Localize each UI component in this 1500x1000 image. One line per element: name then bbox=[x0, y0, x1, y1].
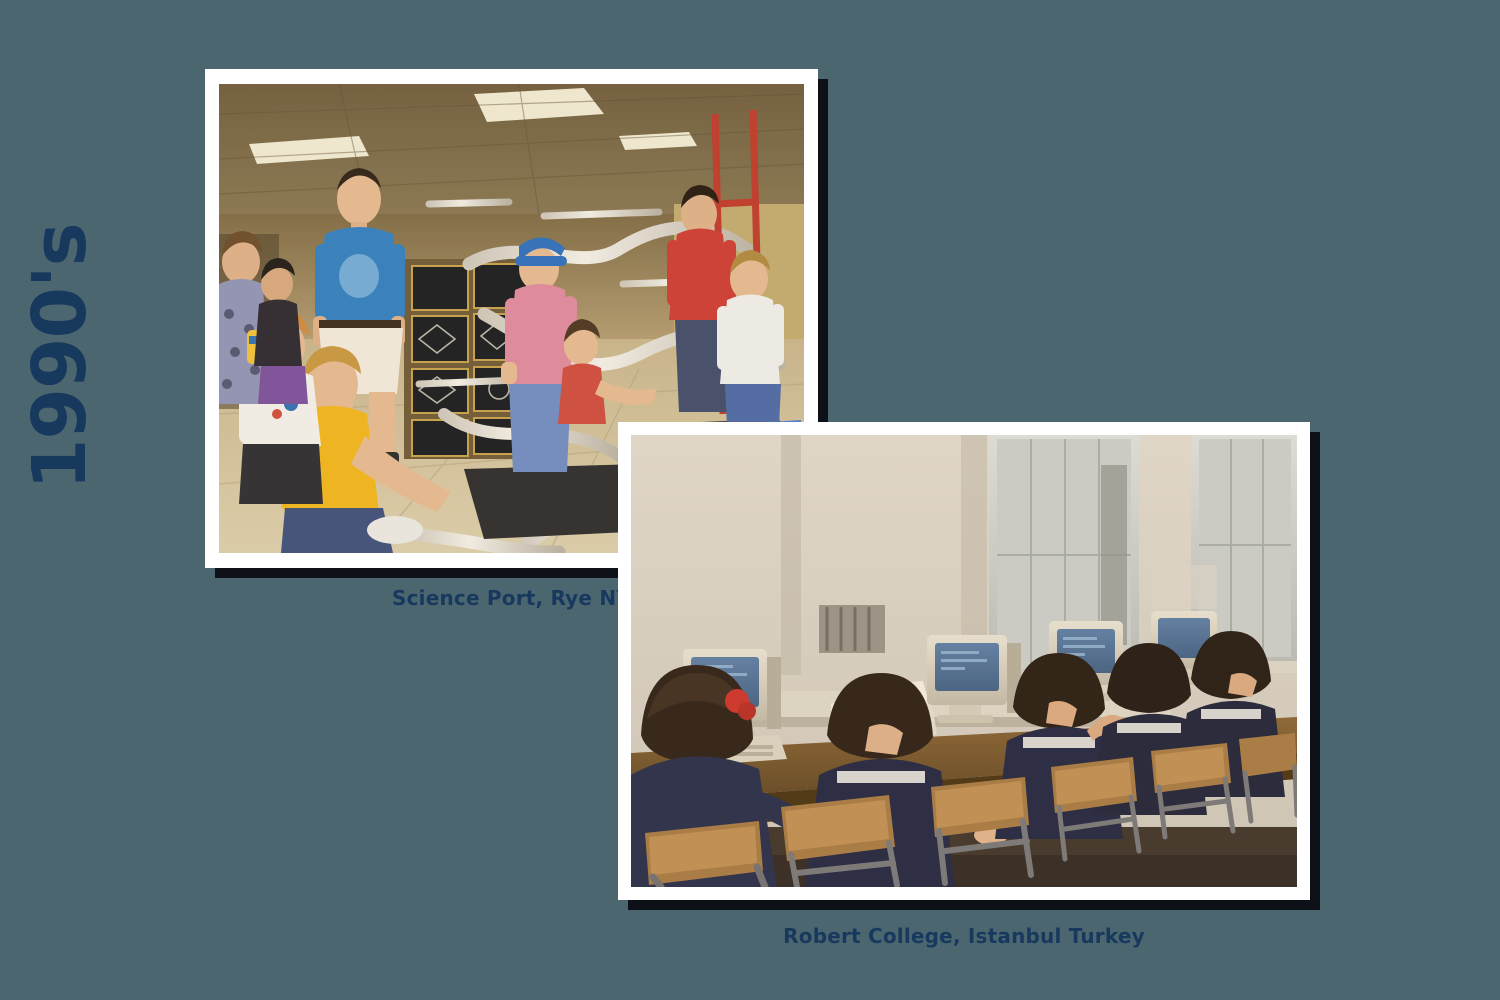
photo-card-robert-college[interactable] bbox=[618, 422, 1310, 900]
photo-caption-robert-college: Robert College, Istanbul Turkey bbox=[618, 924, 1310, 948]
slide-canvas: 1990's bbox=[0, 0, 1500, 1000]
era-label: 1990's bbox=[0, 230, 120, 490]
photo-image-robert-college bbox=[631, 435, 1297, 887]
